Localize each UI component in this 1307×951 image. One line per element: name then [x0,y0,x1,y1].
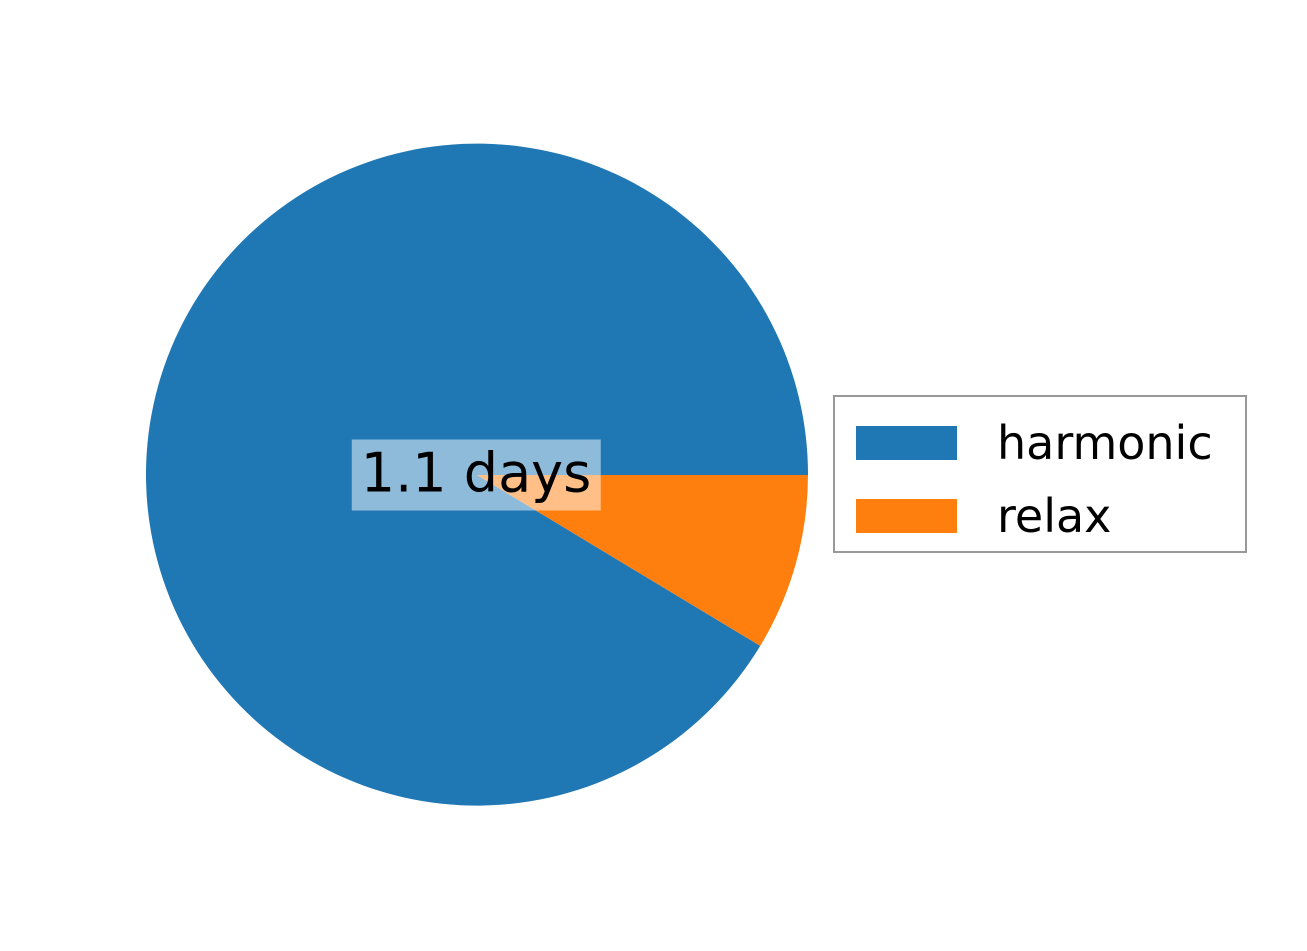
chart-legend: harmonic relax [833,395,1247,553]
legend-label-harmonic: harmonic [997,420,1213,466]
legend-swatch-relax [856,499,957,533]
pie-chart-figure: 1.1 days harmonic relax [0,0,1307,951]
legend-label-relax: relax [997,493,1111,539]
legend-entry-harmonic[interactable]: harmonic [856,420,1213,466]
pie-wedge-label-harmonic: 1.1 days [352,440,601,511]
legend-swatch-harmonic [856,426,957,460]
legend-entry-relax[interactable]: relax [856,493,1111,539]
